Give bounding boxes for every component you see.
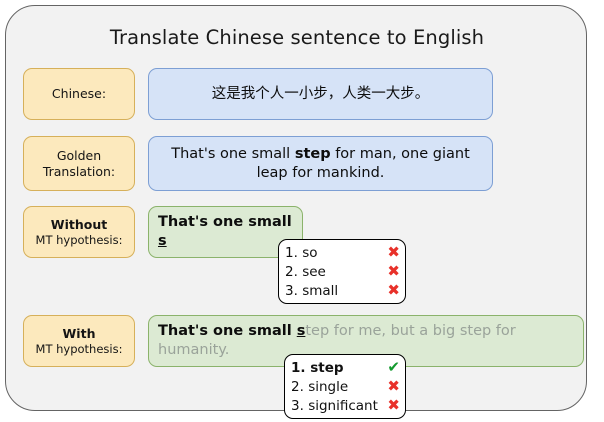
source-sentence-text: 这是我个人一小步，人类一大步。 <box>212 85 430 104</box>
label-golden-line2: Translation: <box>43 164 115 180</box>
suggestion-word: single <box>308 379 348 395</box>
suggestion-item[interactable]: 1. so ✖ <box>285 243 400 262</box>
cross-icon: ✖ <box>383 398 400 413</box>
suggestion-item[interactable]: 1. step ✔ <box>291 358 400 377</box>
label-without-mt-line2: MT hypothesis: <box>36 233 123 248</box>
without-mt-typed: That's one small <box>158 214 292 230</box>
suggestion-label: 3. significant <box>291 398 378 414</box>
suggestion-word: so <box>302 245 317 261</box>
suggestion-rank: 3. <box>285 283 298 299</box>
check-icon: ✔ <box>383 360 400 375</box>
suggestion-rank: 2. <box>285 264 298 280</box>
golden-translation-text: That's one small step for man, one giant… <box>158 145 483 183</box>
suggestion-word: see <box>302 264 326 280</box>
suggestion-rank: 2. <box>291 379 304 395</box>
suggestion-item[interactable]: 3. significant ✖ <box>291 396 400 415</box>
suggestion-label: 1. so <box>285 245 317 261</box>
without-mt-caret-prefix: s <box>158 233 167 249</box>
suggestion-label: 2. single <box>291 379 348 395</box>
cross-icon: ✖ <box>383 264 400 279</box>
suggestion-item[interactable]: 2. see ✖ <box>285 262 400 281</box>
suggestion-item[interactable]: 3. small ✖ <box>285 281 400 300</box>
cross-icon: ✖ <box>383 379 400 394</box>
label-chinese: Chinese: <box>23 68 135 120</box>
label-golden-translation: Golden Translation: <box>23 136 135 191</box>
suggestion-rank: 1. <box>291 360 306 376</box>
label-golden-line1: Golden <box>57 148 101 164</box>
label-without-mt: Without MT hypothesis: <box>23 206 135 258</box>
with-mt-typed: That's one small <box>158 323 297 339</box>
suggestion-label: 1. step <box>291 360 344 376</box>
cross-icon: ✖ <box>383 245 400 260</box>
main-panel: Translate Chinese sentence to English Ch… <box>5 5 587 411</box>
label-with-mt-line1: With <box>63 326 96 342</box>
suggestion-word: significant <box>308 398 378 414</box>
suggestion-word: small <box>302 283 338 299</box>
suggestion-rank: 3. <box>291 398 304 414</box>
golden-translation-box: That's one small step for man, one giant… <box>148 136 493 191</box>
source-sentence-box: 这是我个人一小步，人类一大步。 <box>148 68 493 120</box>
golden-text-bold: step <box>295 146 331 162</box>
suggestion-label: 2. see <box>285 264 326 280</box>
page-title: Translate Chinese sentence to English <box>6 26 588 49</box>
label-with-mt: With MT hypothesis: <box>23 315 135 367</box>
suggestion-label: 3. small <box>285 283 338 299</box>
label-without-mt-line1: Without <box>51 217 107 233</box>
without-mt-text: That's one small s <box>158 213 293 251</box>
suggestion-rank: 1. <box>285 245 298 261</box>
label-with-mt-line2: MT hypothesis: <box>36 342 123 357</box>
cross-icon: ✖ <box>383 283 400 298</box>
suggestion-item[interactable]: 2. single ✖ <box>291 377 400 396</box>
suggestion-popup-without-mt[interactable]: 1. so ✖ 2. see ✖ 3. small ✖ <box>278 239 406 304</box>
label-chinese-text: Chinese: <box>52 86 106 102</box>
suggestion-popup-with-mt[interactable]: 1. step ✔ 2. single ✖ 3. significant ✖ <box>284 354 406 419</box>
golden-text-before: That's one small <box>171 146 295 162</box>
suggestion-word: step <box>310 360 343 376</box>
